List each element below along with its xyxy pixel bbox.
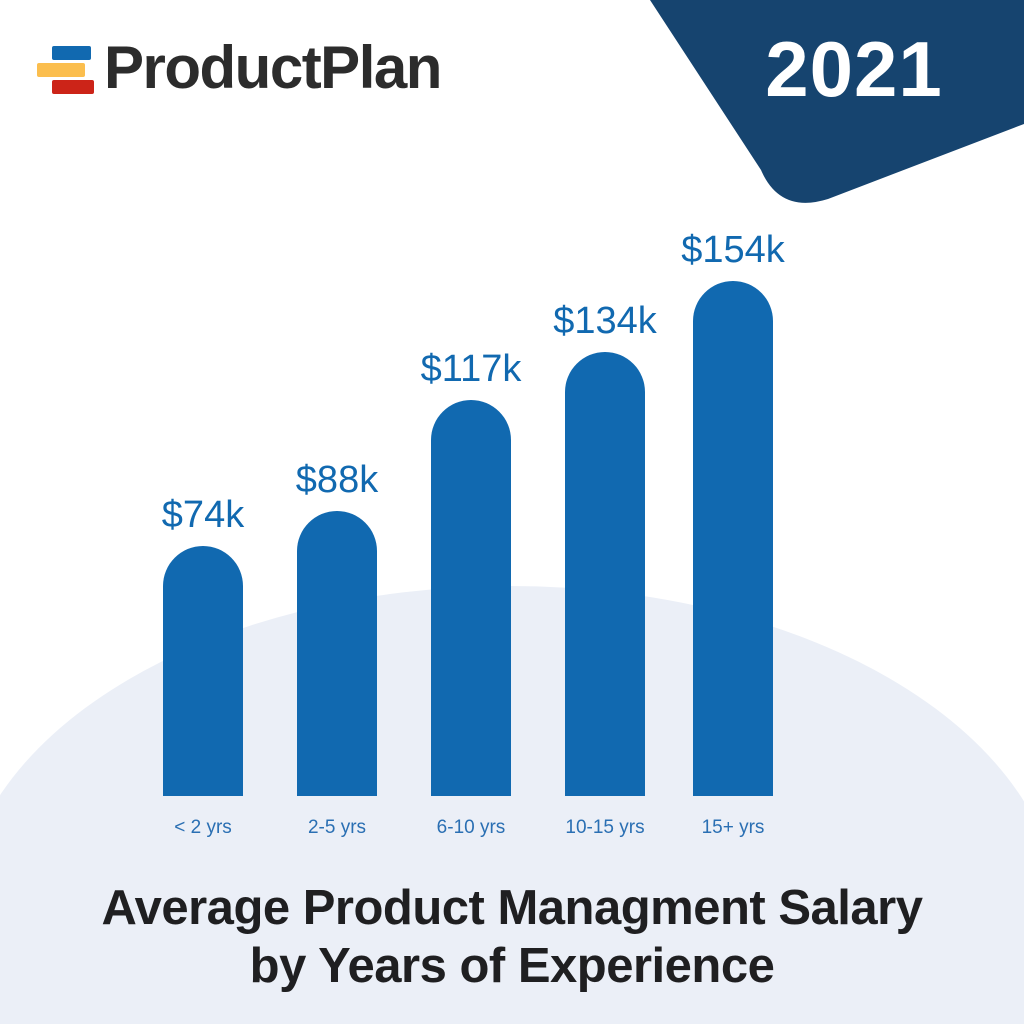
- chart-title: Average Product Managment Salary by Year…: [0, 880, 1024, 996]
- bar-group-2: $117k 6-10 yrs: [431, 400, 511, 796]
- logo-bar-blue-icon: [52, 46, 91, 60]
- bar-value-label-1: $88k: [257, 461, 417, 499]
- chart-title-line-2: by Years of Experience: [0, 938, 1024, 996]
- bar-0: [163, 546, 243, 796]
- logo-wordmark: ProductPlan: [104, 38, 441, 98]
- productplan-logo-mark-icon: [34, 39, 92, 97]
- year-banner: 2021: [604, 0, 1024, 210]
- bar-category-label-4: 15+ yrs: [648, 818, 818, 837]
- year-label: 2021: [724, 30, 984, 108]
- bar-4: [693, 281, 773, 796]
- bar-value-label-4: $154k: [653, 231, 813, 269]
- bar-2: [431, 400, 511, 796]
- bar-value-label-3: $134k: [525, 302, 685, 340]
- bar-1: [297, 511, 377, 796]
- logo-bar-yellow-icon: [37, 63, 85, 77]
- bar-group-1: $88k 2-5 yrs: [297, 511, 377, 796]
- bar-value-label-0: $74k: [123, 496, 283, 534]
- productplan-logo: ProductPlan: [34, 38, 441, 98]
- bar-group-3: $134k 10-15 yrs: [565, 352, 645, 796]
- logo-bar-red-icon: [52, 80, 94, 94]
- bar-3: [565, 352, 645, 796]
- chart-title-line-1: Average Product Managment Salary: [0, 880, 1024, 938]
- bar-group-0: $74k < 2 yrs: [163, 546, 243, 796]
- bar-value-label-2: $117k: [391, 350, 551, 388]
- bar-group-4: $154k 15+ yrs: [693, 281, 773, 796]
- infographic-canvas: 2021 ProductPlan $74k < 2 yrs $88k 2-5 y…: [0, 0, 1024, 1024]
